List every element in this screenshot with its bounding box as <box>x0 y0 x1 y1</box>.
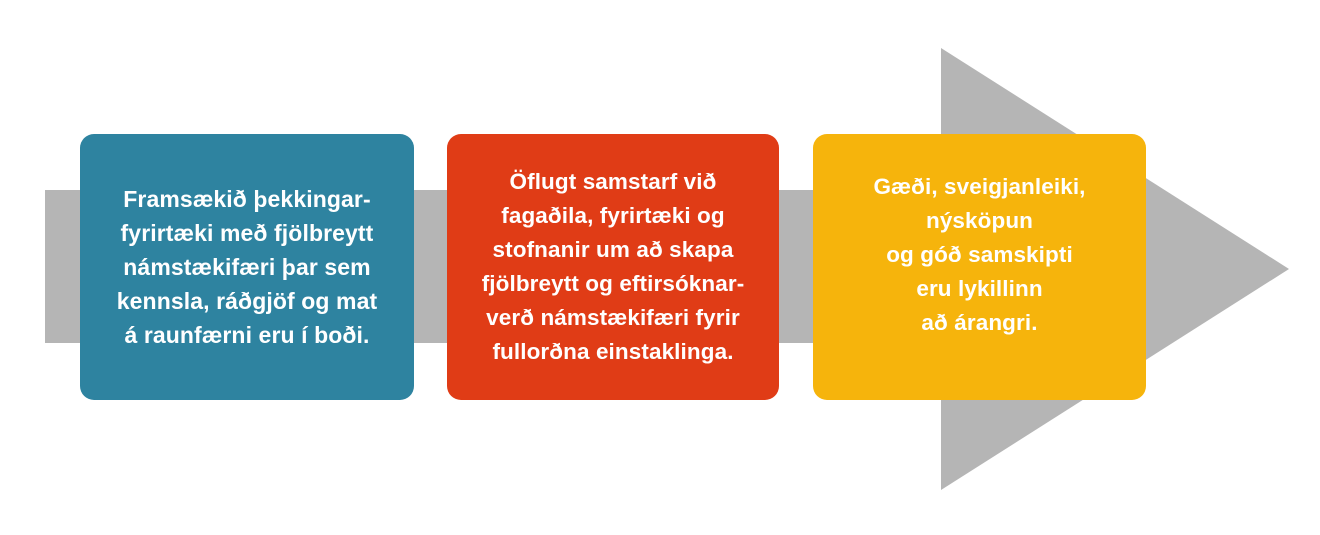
statement-card-oflugt-samstarf[interactable]: Öflugt samstarf við fagaðila, fyrirtæki … <box>447 134 779 400</box>
statement-card-oflugt-samstarf-text: Öflugt samstarf við fagaðila, fyrirtæki … <box>482 165 745 369</box>
infographic-canvas: Framsækið þekkingar- fyrirtæki með fjölb… <box>0 0 1320 535</box>
statement-card-gaedi-text: Gæði, sveigjanleiki, nýsköpun og góð sam… <box>873 170 1085 340</box>
statement-card-framsaekid-text: Framsækið þekkingar- fyrirtæki með fjölb… <box>117 182 377 352</box>
statement-card-gaedi[interactable]: Gæði, sveigjanleiki, nýsköpun og góð sam… <box>813 134 1146 400</box>
statement-card-framsaekid[interactable]: Framsækið þekkingar- fyrirtæki með fjölb… <box>80 134 414 400</box>
